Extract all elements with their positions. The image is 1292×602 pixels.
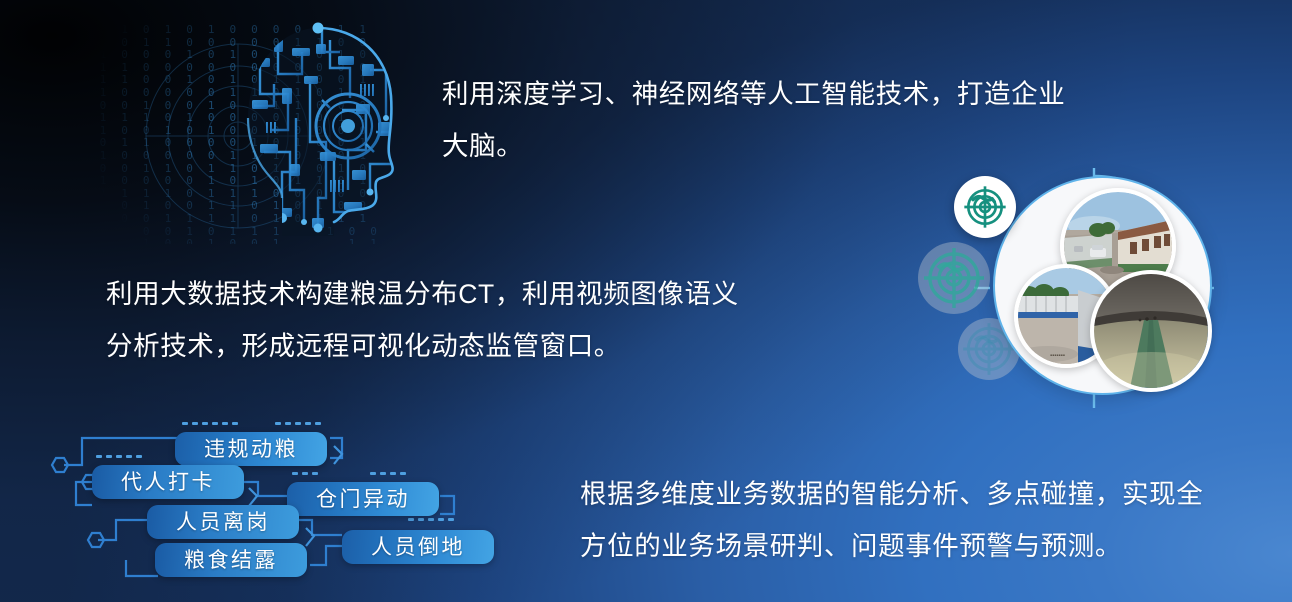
tag-chip-5-label: 粮食结露 xyxy=(184,544,278,574)
tag-chip-1-label: 代人打卡 xyxy=(121,466,215,496)
paragraph-multidimensional-analysis: 根据多维度业务数据的智能分析、多点碰撞，实现全 方位的业务场景研判、问题事件预警… xyxy=(580,468,1203,572)
radar-target-icon xyxy=(918,242,990,314)
paragraph-grain-temperature-ct-line-1: 利用大数据技术构建粮温分布CT，利用视频图像语义 xyxy=(106,268,739,320)
tag-chip-3-label: 人员离岗 xyxy=(176,506,270,536)
radar-target-icon xyxy=(961,183,1009,231)
tag-chip-4-label: 人员倒地 xyxy=(371,531,465,561)
paragraph-ai-brain-line-1: 利用深度学习、神经网络等人工智能技术，打造企业 xyxy=(442,68,1065,120)
tag-chip-3[interactable]: 人员离岗 xyxy=(147,505,299,539)
radar-target-badge xyxy=(954,176,1016,238)
tag-chip-0-label: 违规动粮 xyxy=(204,433,298,463)
tag-chip-2-label: 仓门异动 xyxy=(316,483,410,513)
paragraph-multidimensional-analysis-line-2: 方位的业务场景研判、问题事件预警与预测。 xyxy=(580,520,1203,572)
photo-granary-interior[interactable] xyxy=(1090,270,1212,392)
tag-chip-5[interactable]: 粮食结露 xyxy=(155,543,307,577)
svg-text:▪▪▪▪▪▪▪: ▪▪▪▪▪▪▪ xyxy=(1050,353,1065,359)
tag-chip-4[interactable]: 人员倒地 xyxy=(342,530,494,564)
ai-brain-head-graphic xyxy=(230,22,405,237)
paragraph-multidimensional-analysis-line-1: 根据多维度业务数据的智能分析、多点碰撞，实现全 xyxy=(580,468,1203,520)
slide-canvas: 0 0 1 0 1 0 1 0 0 0 0 0 1 1 0 0 0 0 0 1 … xyxy=(0,0,1292,602)
paragraph-grain-temperature-ct-line-2: 分析技术，形成远程可视化动态监管窗口。 xyxy=(106,320,739,372)
alert-event-tag-cluster: 违规动粮 代人打卡 仓门异动 人员离岗 人员倒地 粮食结露 xyxy=(30,410,540,602)
tag-chip-0[interactable]: 违规动粮 xyxy=(175,432,327,466)
tag-chip-1[interactable]: 代人打卡 xyxy=(92,465,244,499)
tag-chip-2[interactable]: 仓门异动 xyxy=(287,482,439,516)
paragraph-grain-temperature-ct: 利用大数据技术构建粮温分布CT，利用视频图像语义 分析技术，形成远程可视化动态监… xyxy=(106,268,739,372)
radar-target-icon-ghost-1 xyxy=(918,242,990,314)
monitoring-photo-cluster: ▪▪▪▪▪▪▪ xyxy=(918,166,1278,401)
